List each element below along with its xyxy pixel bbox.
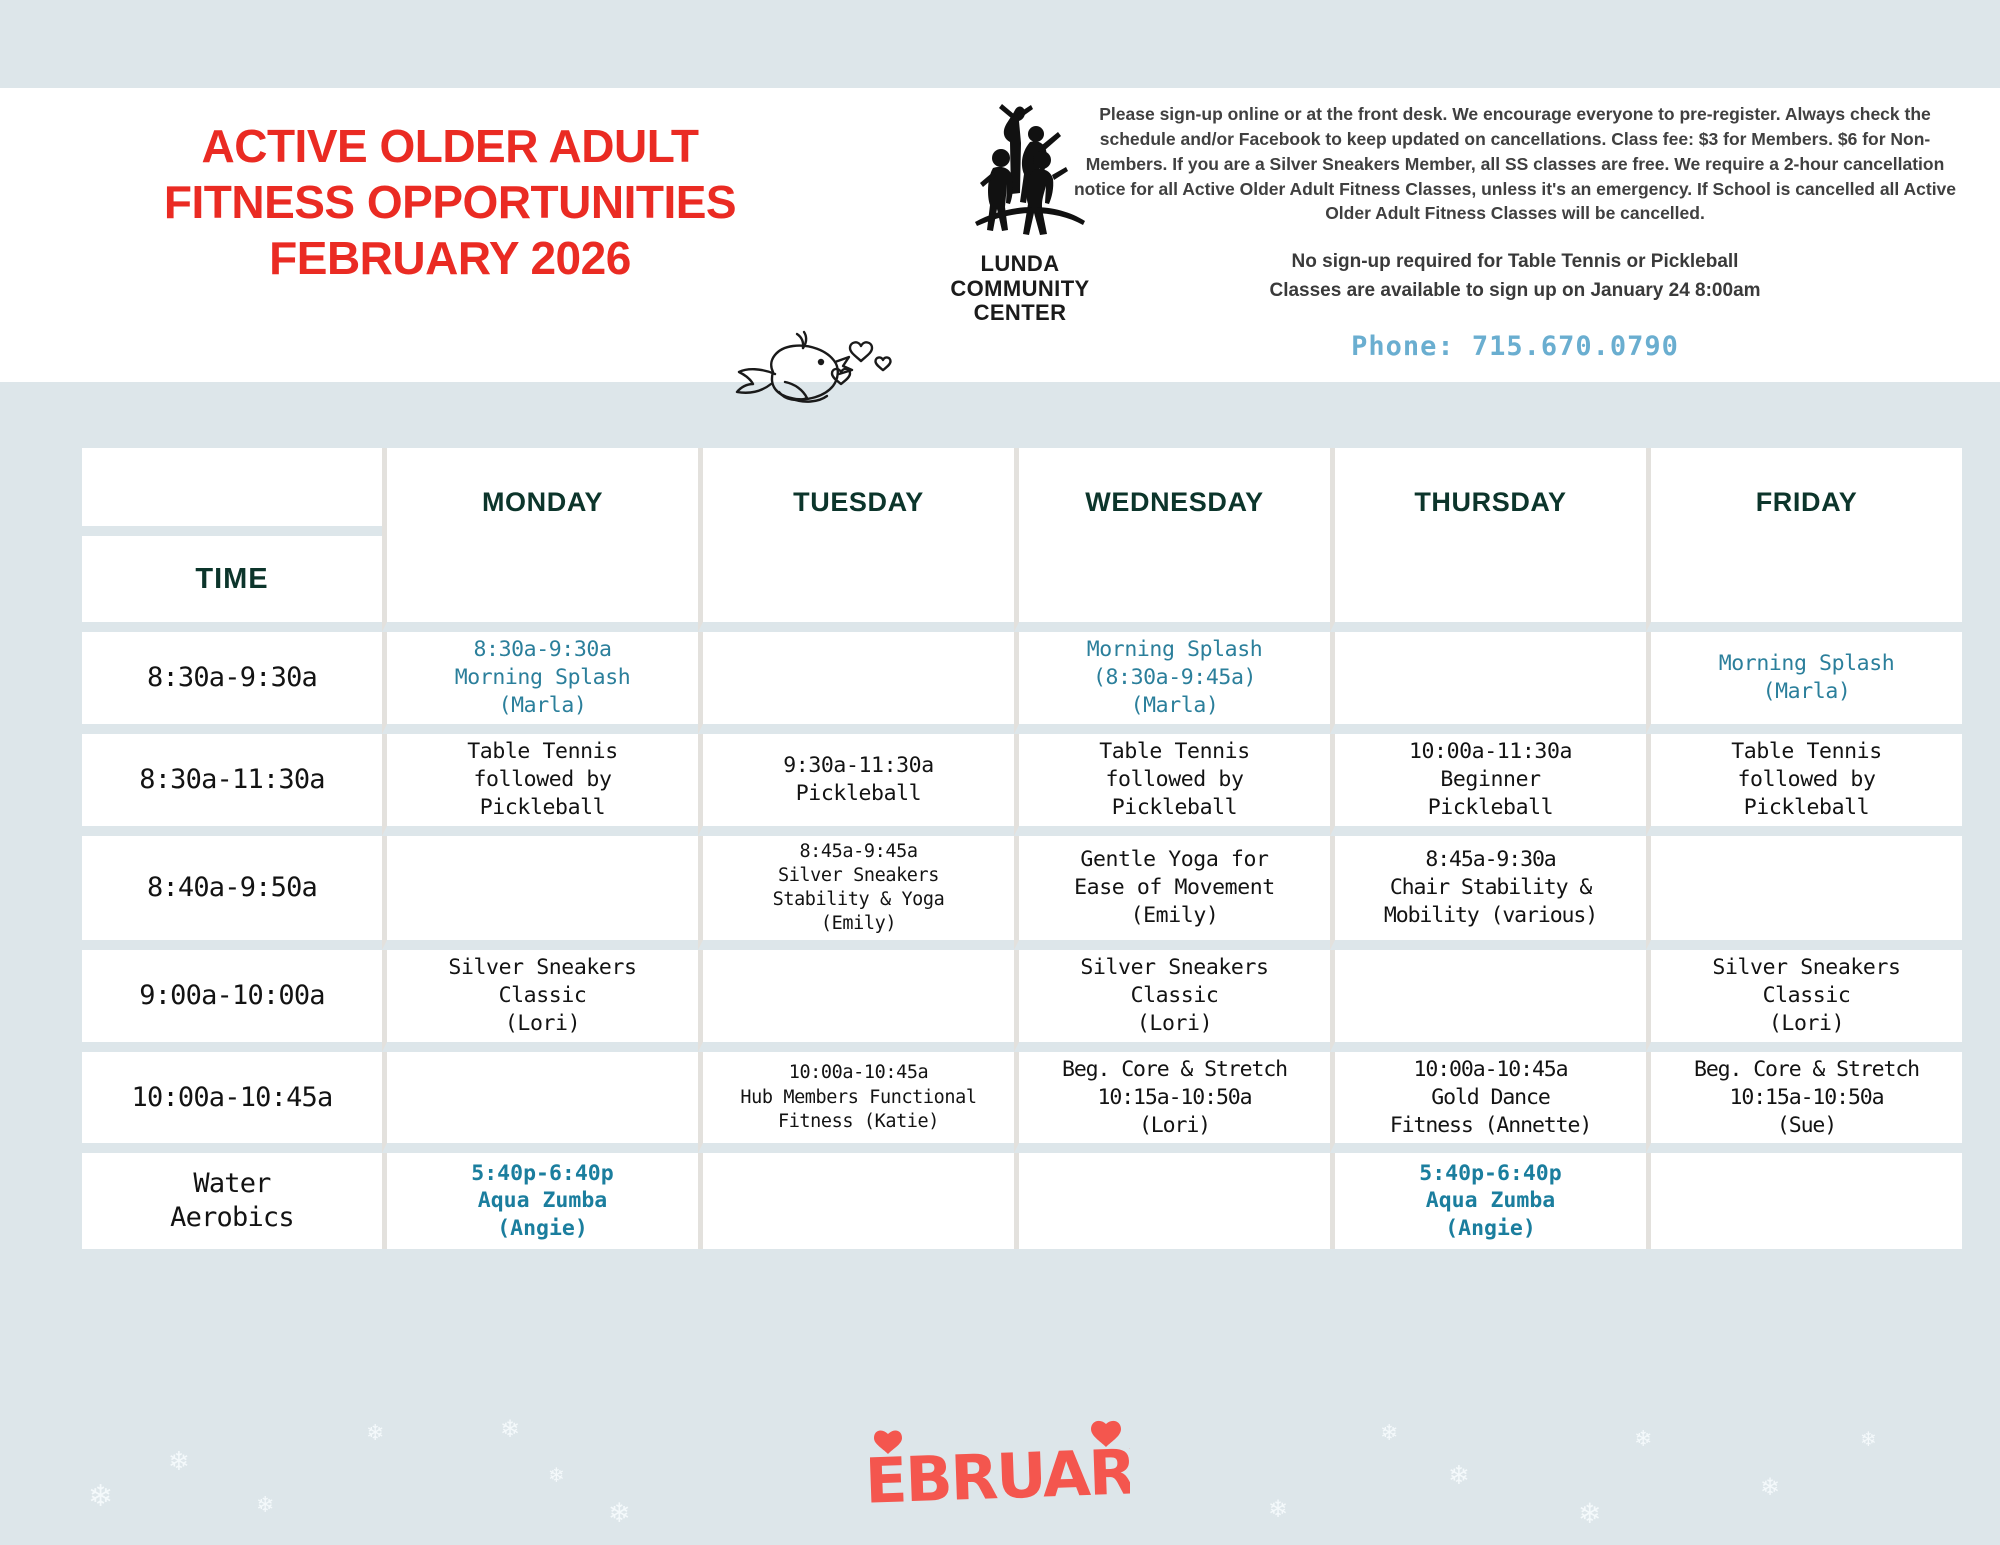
time-slot-cell: 8:40a-9:50a [82, 836, 382, 950]
class-entry-text: 8:45a-9:45a Silver Sneakers Stability & … [773, 841, 945, 934]
class-entry-text: Table Tennis followed by Pickleball [1099, 739, 1250, 820]
time-slot-cell: 8:30a-9:30a [82, 632, 382, 734]
february-lettering-icon: FEBRUARY [870, 1406, 1130, 1526]
day-header-thursday: THURSDAY [1330, 448, 1646, 536]
time-slot-label: 9:00a-10:00a [139, 980, 324, 1011]
class-cell[interactable]: Beg. Core & Stretch 10:15a-10:50a (Sue) [1646, 1052, 1962, 1154]
class-entry-text: 5:40p-6:40p Aqua Zumba (Angie) [471, 1161, 613, 1242]
class-entry-text: 10:00a-11:30a Beginner Pickleball [1409, 739, 1572, 820]
empty-cell [382, 836, 698, 950]
empty-cell [1646, 1153, 1962, 1249]
snowflake-icon: ❄ [1448, 1462, 1470, 1488]
snowflake-icon: ❄ [548, 1466, 565, 1486]
time-slot-label: 8:30a-11:30a [139, 764, 324, 795]
empty-cell [1014, 1153, 1330, 1249]
snowflake-icon: ❄ [1634, 1428, 1652, 1450]
empty-cell [1646, 836, 1962, 950]
schedule-table: MONDAY TUESDAY WEDNESDAY THURSDAY FRIDAY… [82, 448, 1962, 1249]
class-cell[interactable]: Beg. Core & Stretch 10:15a-10:50a (Lori) [1014, 1052, 1330, 1154]
class-cell[interactable]: Silver Sneakers Classic (Lori) [1646, 950, 1962, 1052]
time-header-spacer-monday [382, 536, 698, 632]
time-slot-cell: 8:30a-11:30a [82, 734, 382, 836]
class-entry-text: 5:40p-6:40p Aqua Zumba (Angie) [1419, 1161, 1561, 1242]
snowflake-icon: ❄ [1860, 1430, 1877, 1450]
schedule-row: 10:00a-10:45a10:00a-10:45a Hub Members F… [82, 1052, 1962, 1154]
schedule-row: 8:30a-9:30a8:30a-9:30a Morning Splash (M… [82, 632, 1962, 734]
empty-cell [382, 1052, 698, 1154]
class-cell[interactable]: Table Tennis followed by Pickleball [1014, 734, 1330, 836]
class-entry-text: 10:00a-10:45a Gold Dance Fitness (Annett… [1390, 1057, 1591, 1138]
snowflake-icon: ❄ [1578, 1500, 1601, 1528]
class-cell[interactable]: Morning Splash (Marla) [1646, 632, 1962, 734]
class-cell[interactable]: 5:40p-6:40p Aqua Zumba (Angie) [382, 1153, 698, 1249]
class-cell[interactable]: 10:00a-10:45a Hub Members Functional Fit… [698, 1052, 1014, 1154]
page-title: ACTIVE OLDER ADULT FITNESS OPPORTUNITIES… [120, 118, 780, 286]
policy-paragraph: Please sign-up online or at the front de… [1060, 102, 1970, 226]
title-line-2: FITNESS OPPORTUNITIES [120, 174, 780, 230]
class-entry-text: Table Tennis followed by Pickleball [467, 739, 618, 820]
title-line-1: ACTIVE OLDER ADULT [120, 118, 780, 174]
empty-cell [1330, 632, 1646, 734]
snowflake-icon: ❄ [1268, 1498, 1288, 1522]
class-entry-text: Beg. Core & Stretch 10:15a-10:50a (Lori) [1062, 1057, 1287, 1138]
class-cell[interactable]: 8:45a-9:30a Chair Stability & Mobility (… [1330, 836, 1646, 950]
footer-decoration: ❄ ❄ ❄ ❄ ❄ ❄ ❄ ❄ ❄ ❄ ❄ ❄ ❄ ❄ FEBRUARY [0, 1400, 2000, 1545]
class-cell[interactable]: Morning Splash (8:30a-9:45a) (Marla) [1014, 632, 1330, 734]
day-header-tuesday: TUESDAY [698, 448, 1014, 536]
snowflake-icon: ❄ [366, 1422, 384, 1444]
class-entry-text: Table Tennis followed by Pickleball [1731, 739, 1882, 820]
class-cell[interactable]: 8:30a-9:30a Morning Splash (Marla) [382, 632, 698, 734]
svg-text:FEBRUARY: FEBRUARY [870, 1434, 1130, 1519]
time-slot-label: 8:30a-9:30a [147, 662, 317, 693]
class-cell[interactable]: 10:00a-11:30a Beginner Pickleball [1330, 734, 1646, 836]
day-header-row: MONDAY TUESDAY WEDNESDAY THURSDAY FRIDAY [82, 448, 1962, 536]
class-entry-text: Gentle Yoga for Ease of Movement (Emily) [1074, 847, 1275, 928]
class-cell[interactable]: 5:40p-6:40p Aqua Zumba (Angie) [1330, 1153, 1646, 1249]
class-cell[interactable]: 9:30a-11:30a Pickleball [698, 734, 1014, 836]
class-entry-text: Silver Sneakers Classic (Lori) [1712, 955, 1900, 1036]
time-header-cell: TIME [82, 536, 382, 632]
schedule-body: TIME 8:30a-9:30a8:30a-9:30a Morning Spla… [82, 536, 1962, 1249]
time-slot-label: 8:40a-9:50a [147, 872, 317, 903]
class-entry-text: Beg. Core & Stretch 10:15a-10:50a (Sue) [1694, 1057, 1919, 1138]
snowflake-icon: ❄ [88, 1482, 113, 1512]
class-entry-text: Morning Splash (8:30a-9:45a) (Marla) [1087, 637, 1263, 718]
time-header-spacer-thursday [1330, 536, 1646, 632]
header-banner: ACTIVE OLDER ADULT FITNESS OPPORTUNITIES… [0, 88, 2000, 382]
february-word-art: FEBRUARY [870, 1406, 1130, 1531]
empty-cell [698, 950, 1014, 1052]
corner-cell [82, 448, 382, 536]
empty-cell [698, 632, 1014, 734]
phone-number[interactable]: Phone: 715.670.0790 [1060, 331, 1970, 362]
schedule-row: 9:00a-10:00aSilver Sneakers Classic (Lor… [82, 950, 1962, 1052]
day-header-wednesday: WEDNESDAY [1014, 448, 1330, 536]
no-signup-note: No sign-up required for Table Tennis or … [1060, 248, 1970, 277]
snowflake-icon: ❄ [608, 1500, 631, 1527]
signup-open-note: Classes are available to sign up on Janu… [1060, 277, 1970, 306]
class-cell[interactable]: Silver Sneakers Classic (Lori) [382, 950, 698, 1052]
schedule-row: 8:40a-9:50a8:45a-9:45a Silver Sneakers S… [82, 836, 1962, 950]
class-entry-text: 10:00a-10:45a Hub Members Functional Fit… [740, 1062, 976, 1131]
schedule-row: Water Aerobics5:40p-6:40p Aqua Zumba (An… [82, 1153, 1962, 1249]
class-entry-text: 8:30a-9:30a Morning Splash (Marla) [455, 637, 631, 718]
time-header-spacer-friday [1646, 536, 1962, 632]
time-slot-cell: Water Aerobics [82, 1153, 382, 1249]
snowflake-icon: ❄ [168, 1448, 190, 1474]
schedule-table-wrapper: MONDAY TUESDAY WEDNESDAY THURSDAY FRIDAY… [82, 448, 1962, 1249]
class-cell[interactable]: Silver Sneakers Classic (Lori) [1014, 950, 1330, 1052]
class-cell[interactable]: 8:45a-9:45a Silver Sneakers Stability & … [698, 836, 1014, 950]
day-header-monday: MONDAY [382, 448, 698, 536]
snowflake-icon: ❄ [256, 1494, 274, 1516]
class-cell[interactable]: Table Tennis followed by Pickleball [382, 734, 698, 836]
empty-cell [698, 1153, 1014, 1249]
class-entry-text: Morning Splash (Marla) [1719, 651, 1895, 704]
snowflake-icon: ❄ [1760, 1476, 1780, 1500]
time-slot-cell: 10:00a-10:45a [82, 1052, 382, 1154]
day-header-friday: FRIDAY [1646, 448, 1962, 536]
class-cell[interactable]: 10:00a-10:45a Gold Dance Fitness (Annett… [1330, 1052, 1646, 1154]
empty-cell [1330, 950, 1646, 1052]
class-cell[interactable]: Table Tennis followed by Pickleball [1646, 734, 1962, 836]
class-entry-text: Silver Sneakers Classic (Lori) [1080, 955, 1268, 1036]
time-header-spacer-wednesday [1014, 536, 1330, 632]
class-entry-text: 9:30a-11:30a Pickleball [783, 753, 934, 806]
bird-with-hearts-icon [715, 310, 895, 420]
time-slot-cell: 9:00a-10:00a [82, 950, 382, 1052]
title-line-3: FEBRUARY 2026 [120, 230, 780, 286]
class-cell[interactable]: Gentle Yoga for Ease of Movement (Emily) [1014, 836, 1330, 950]
schedule-row: 8:30a-11:30aTable Tennis followed by Pic… [82, 734, 1962, 836]
class-entry-text: Silver Sneakers Classic (Lori) [448, 955, 636, 1036]
time-header-row: TIME [82, 536, 1962, 632]
time-header-spacer-tuesday [698, 536, 1014, 632]
snowflake-icon: ❄ [1380, 1422, 1398, 1444]
snowflake-icon: ❄ [500, 1418, 520, 1442]
time-slot-label: 10:00a-10:45a [132, 1082, 333, 1113]
time-slot-label: Water Aerobics [170, 1168, 294, 1234]
header-info-block: Please sign-up online or at the front de… [1060, 102, 1970, 362]
class-entry-text: 8:45a-9:30a Chair Stability & Mobility (… [1384, 847, 1597, 928]
